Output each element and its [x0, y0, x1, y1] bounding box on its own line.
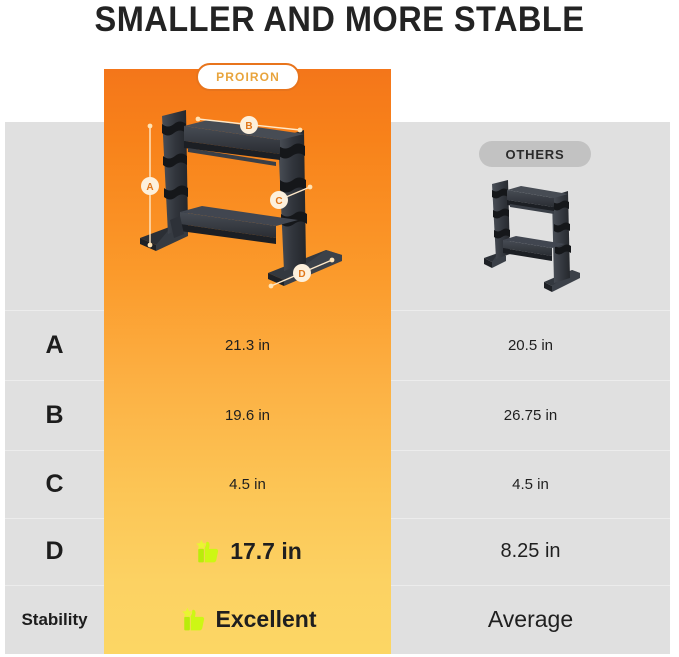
svg-text:A: A — [146, 182, 153, 193]
proiron-brand-label: PROIRON — [216, 70, 280, 84]
others-brand-label: OTHERS — [506, 147, 565, 162]
table-cell-proiron-d: 17.7 in — [104, 518, 391, 585]
table-cell-proiron-b: 19.6 in — [104, 380, 391, 450]
comparison-infographic: SMALLER AND MORE STABLE PROIRON OTHERS — [0, 0, 679, 657]
table-cell-others-d: 8.25 in — [391, 518, 670, 585]
table-row-label-b: B — [5, 380, 104, 450]
thumbs-up-icon — [179, 606, 209, 636]
svg-text:B: B — [245, 121, 252, 132]
table-cell-others-b: 26.75 in — [391, 380, 670, 450]
svg-text:C: C — [275, 196, 282, 207]
table-row-label-stability: Stability — [5, 585, 104, 654]
others-brand-badge: OTHERS — [479, 141, 591, 167]
table-cell-others-stability: Average — [391, 585, 670, 654]
table-cell-proiron-d-value: 17.7 in — [230, 538, 302, 565]
table-cell-proiron-stability: Excellent — [104, 585, 391, 654]
table-cell-proiron-stability-value: Excellent — [216, 606, 317, 633]
table-row-label-a: A — [5, 310, 104, 380]
table-cell-proiron-c: 4.5 in — [104, 450, 391, 518]
thumbs-up-icon — [193, 538, 223, 568]
others-rack-illustration — [476, 178, 601, 300]
table-row-label-d: D — [5, 518, 104, 585]
page-title: SMALLER AND MORE STABLE — [24, 0, 655, 40]
table-cell-proiron-a: 21.3 in — [104, 310, 391, 380]
proiron-brand-badge: PROIRON — [196, 63, 300, 91]
proiron-rack-illustration: A B C D — [118, 108, 383, 303]
table-cell-others-a: 20.5 in — [391, 310, 670, 380]
svg-text:D: D — [298, 269, 305, 280]
table-row-label-c: C — [5, 450, 104, 518]
table-cell-others-c: 4.5 in — [391, 450, 670, 518]
